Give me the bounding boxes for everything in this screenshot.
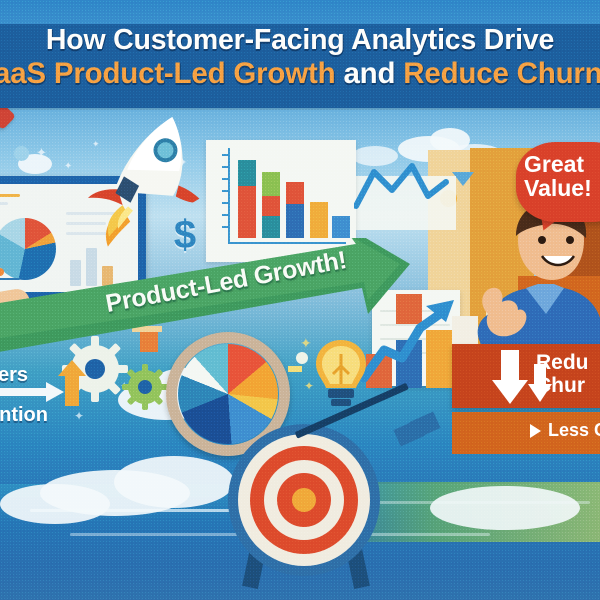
title-highlight-1: Product-Led Growth xyxy=(54,57,336,90)
axis-tick xyxy=(222,190,229,192)
speech-bubble-text: Great Value! xyxy=(524,152,600,201)
sparkle-icon: ✦ xyxy=(74,410,84,422)
chart-bar xyxy=(238,160,256,238)
axis-tick xyxy=(222,166,229,168)
bar-segment xyxy=(262,216,280,238)
bar-segment xyxy=(238,160,256,186)
cloud-shape xyxy=(114,456,234,508)
bar-segment xyxy=(262,196,280,216)
sparkle-icon: ✦ xyxy=(300,336,312,350)
bar-segment xyxy=(332,216,350,238)
axis-tick xyxy=(222,226,229,228)
dashboard-line xyxy=(0,202,8,205)
title-saas-fragment: aaS xyxy=(0,57,54,90)
chart-bar xyxy=(310,202,328,238)
title-line-1: How Customer-Facing Analytics Drive xyxy=(0,26,600,56)
sparkle-icon: ✦ xyxy=(92,140,100,149)
down-arrow-icon-large xyxy=(492,350,528,409)
chart-bar xyxy=(286,182,304,238)
axis-tick xyxy=(222,202,229,204)
sparkle-icon: ✦ xyxy=(64,162,72,172)
left-label-bottom: ention xyxy=(0,404,48,427)
decorative-dot xyxy=(296,352,308,364)
infographic-canvas: ✦ ✦ ✦ ✦ ✦ ✦ xyxy=(0,0,600,600)
cloud-shape xyxy=(430,486,580,530)
title-conjunction: and xyxy=(335,57,403,90)
bullet-caret-icon xyxy=(530,424,541,438)
churn-line-2: Chur xyxy=(536,374,585,397)
chart-bar xyxy=(332,216,350,238)
bubble-line-1: Great xyxy=(524,151,584,177)
dashboard-line xyxy=(0,194,20,197)
decorative-dot xyxy=(14,146,29,161)
bar-segment xyxy=(286,204,304,238)
bar-segment xyxy=(238,186,256,238)
churn-line-1: Redu xyxy=(536,351,589,374)
title-line-2: aaS Product-Led Growth and Reduce Churn xyxy=(0,59,594,90)
bar-segment xyxy=(310,202,328,238)
axis-tick xyxy=(222,154,229,156)
sparkle-icon: ✦ xyxy=(304,380,314,392)
bar-segment xyxy=(262,172,280,196)
chart-bar xyxy=(262,172,280,238)
cloud-shape xyxy=(0,484,110,524)
lightbulb-icon xyxy=(314,338,368,408)
arrow-fletching xyxy=(409,411,440,438)
bar-segment xyxy=(286,182,304,204)
axis-tick xyxy=(222,178,229,180)
bubble-line-2: Value! xyxy=(524,175,592,201)
sparkle-icon: ✦ xyxy=(36,146,47,159)
chart-y-axis xyxy=(228,148,230,244)
axis-tick xyxy=(222,214,229,216)
left-label-top: ers xyxy=(0,364,28,387)
target-bullseye xyxy=(292,488,316,512)
trend-line-top-right xyxy=(354,160,450,216)
less-cancellations-label: Less Can xyxy=(548,420,600,441)
gear-small-icon xyxy=(122,364,168,415)
target-bullseye-icon xyxy=(228,424,380,576)
reduce-churn-label: Redu Chur xyxy=(536,352,589,397)
title-highlight-2: Reduce Churn xyxy=(403,57,600,90)
page-title: How Customer-Facing Analytics Drive aaS … xyxy=(0,26,600,89)
